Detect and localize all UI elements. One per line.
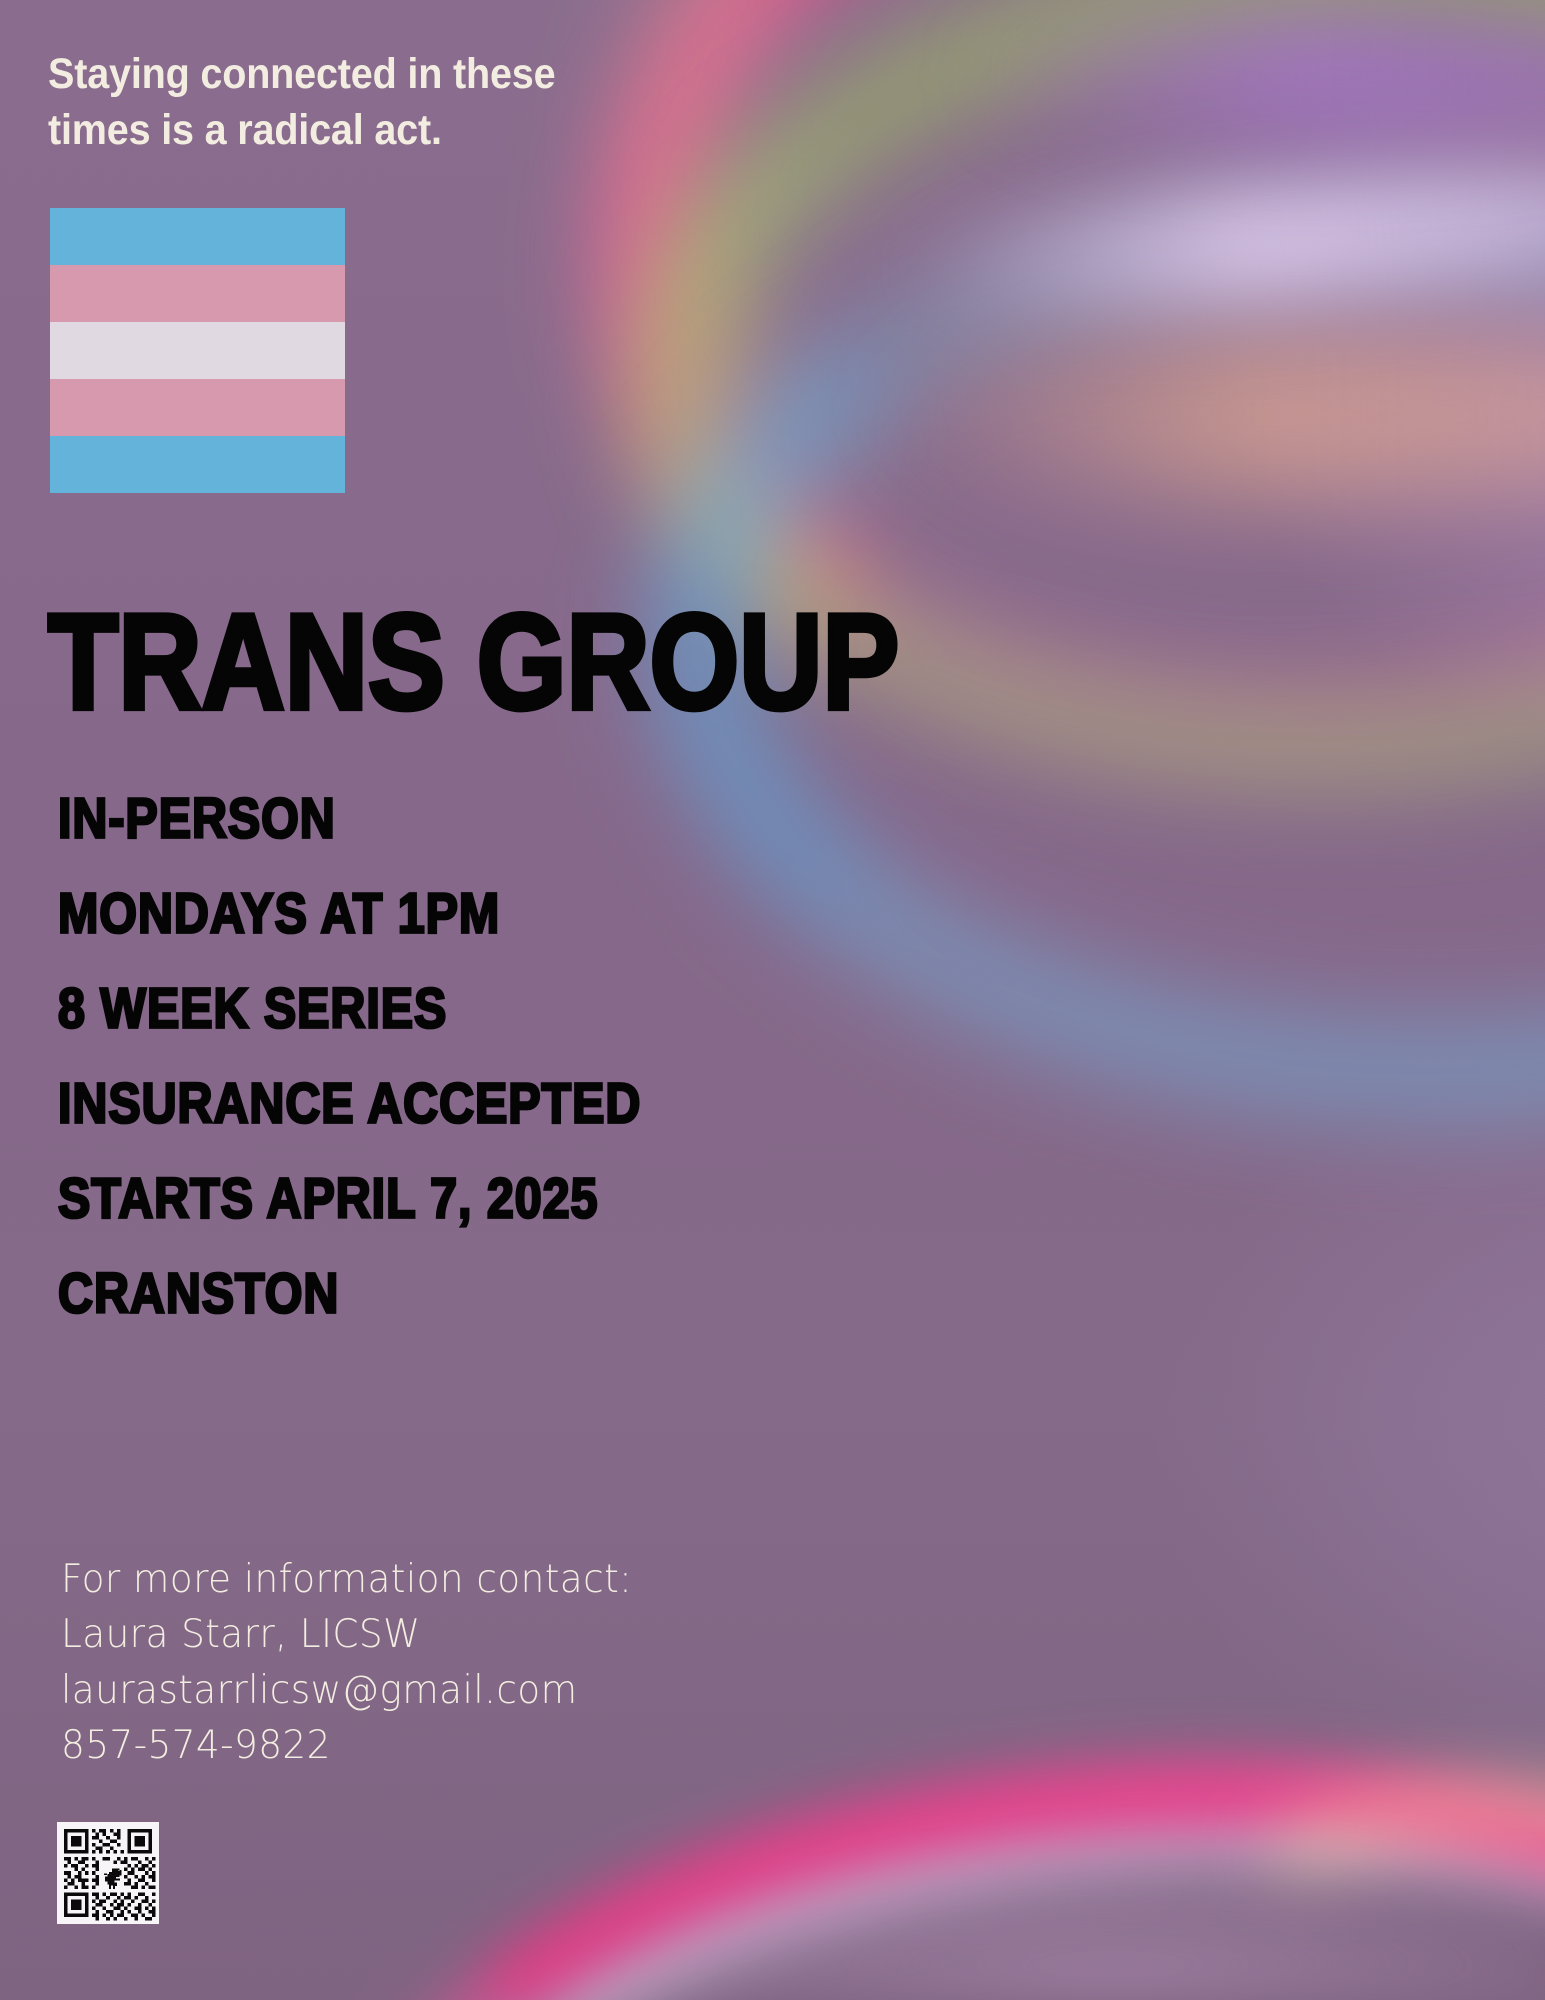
flag-stripe-pink-upper: [50, 265, 345, 322]
contact-intro: For more information contact:: [61, 1552, 632, 1607]
contact-name: Laura Starr, LICSW: [61, 1607, 632, 1662]
contact-email[interactable]: laurastarrlicsw@gmail.com: [61, 1663, 632, 1718]
page-title: TRANS GROUP: [48, 595, 899, 731]
flag-stripe-blue-top: [50, 208, 345, 265]
flag-stripe-pink-lower: [50, 379, 345, 436]
poster-canvas: Staying connected in these times is a ra…: [0, 0, 1545, 2000]
detail-item-duration: 8 WEEK SERIES: [58, 980, 837, 1036]
qr-code-graphic: [57, 1822, 159, 1924]
detail-item-insurance: INSURANCE ACCEPTED: [58, 1075, 837, 1131]
tagline: Staying connected in these times is a ra…: [48, 47, 609, 159]
dinosaur-icon: [99, 1868, 124, 1893]
tagline-line-2: times is a radical act.: [48, 103, 609, 159]
detail-item-format: IN-PERSON: [58, 790, 837, 846]
flag-stripe-white: [50, 322, 345, 379]
detail-item-location: CRANSTON: [58, 1265, 837, 1321]
flag-stripe-blue-bottom: [50, 436, 345, 493]
detail-item-schedule: MONDAYS AT 1PM: [58, 885, 837, 941]
contact-phone[interactable]: 857-574-9822: [61, 1718, 632, 1773]
tagline-line-1: Staying connected in these: [48, 47, 609, 103]
detail-item-start-date: STARTS APRIL 7, 2025: [58, 1170, 837, 1226]
contact-block: For more information contact: Laura Star…: [61, 1552, 632, 1774]
qr-code[interactable]: [57, 1822, 159, 1924]
transgender-pride-flag-icon: [50, 208, 345, 493]
detail-list: IN-PERSON MONDAYS AT 1PM 8 WEEK SERIES I…: [58, 790, 878, 1360]
